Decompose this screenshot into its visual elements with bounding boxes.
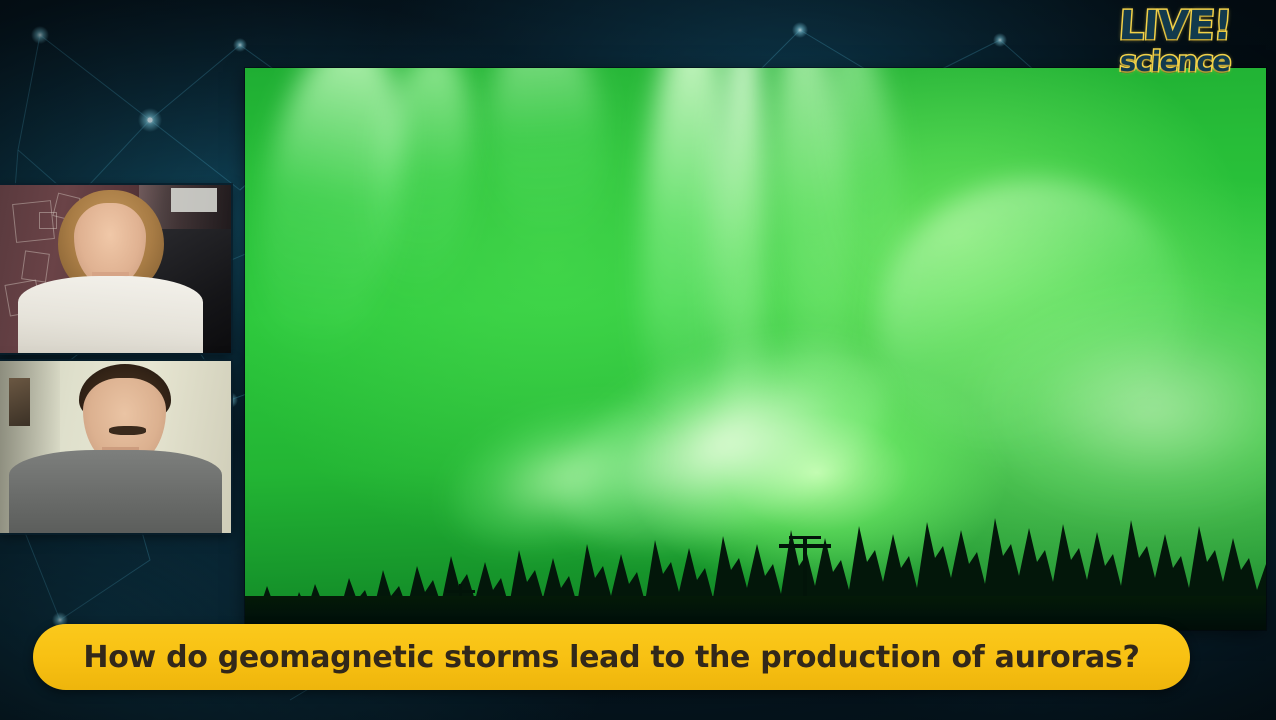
caption-banner: How do geomagnetic storms lead to the pr… [33, 624, 1190, 690]
participant-webcam-2[interactable] [0, 361, 231, 533]
caption-text: How do geomagnetic storms lead to the pr… [83, 640, 1139, 675]
participant-webcam-1[interactable] [0, 185, 231, 353]
video-stage: LIVE! science How do geomagnetic storms … [0, 0, 1276, 720]
live-science-logo: LIVE! science [1090, 6, 1260, 92]
main-video-player[interactable] [245, 68, 1266, 630]
participant-1-scene [0, 185, 231, 353]
logo-live-text: LIVE! [1089, 6, 1262, 46]
participant-2-scene [0, 361, 231, 533]
logo-science-text: science [1089, 48, 1261, 76]
